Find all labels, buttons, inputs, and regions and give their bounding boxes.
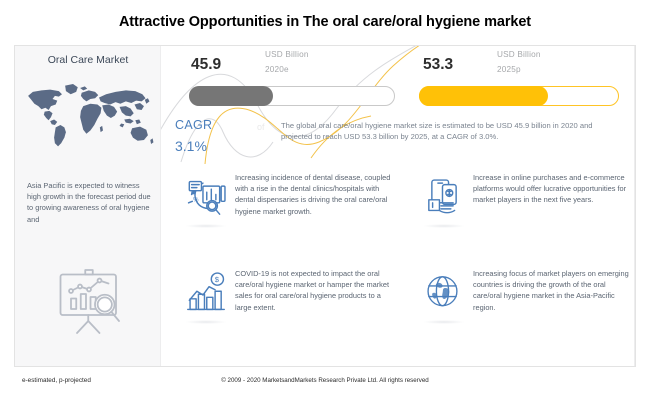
kpi-forecast-year: 2025p bbox=[497, 65, 521, 74]
insight-card: Increase in online purchases and e-comme… bbox=[399, 168, 636, 260]
insight-text: COVID-19 is not expected to impact the o… bbox=[235, 268, 391, 313]
kpi-forecast-unit: USD Billion bbox=[497, 50, 541, 59]
icon-shadow bbox=[423, 320, 465, 324]
kpi-section: 45.9 USD Billion 2020e 53.3 USD Billion … bbox=[161, 46, 636, 164]
footer-copyright: © 2009 - 2020 MarketsandMarkets Research… bbox=[0, 377, 650, 384]
kpi-current-year: 2020e bbox=[265, 65, 289, 74]
insight-card: $ COVID-19 is not expected to impact the… bbox=[161, 264, 399, 356]
presentation-chart-magnifier-icon bbox=[43, 264, 135, 336]
kpi-forecast-fill bbox=[419, 86, 548, 106]
cagr-label: CAGR bbox=[175, 118, 212, 132]
content-panel: 45.9 USD Billion 2020e 53.3 USD Billion … bbox=[161, 46, 635, 366]
insights-grid: % Increasing incidence of dental disease… bbox=[161, 168, 636, 367]
infographic-card: Oral Care Market bbox=[14, 45, 636, 367]
kpi-forecast-value: 53.3 bbox=[423, 56, 453, 74]
page-title: Attractive Opportunities in The oral car… bbox=[0, 14, 650, 30]
sidebar-note: Asia Pacific is expected to witness high… bbox=[27, 180, 155, 225]
kpi-current-track bbox=[189, 86, 395, 106]
insight-card: Increasing focus of market players on em… bbox=[399, 264, 636, 356]
sidebar-heading: Oral Care Market bbox=[15, 54, 161, 66]
world-map-icon bbox=[21, 72, 155, 156]
kpi-description: The global oral care/oral hygiene market… bbox=[281, 120, 611, 143]
svg-text:%: % bbox=[193, 197, 199, 203]
icon-shadow bbox=[185, 320, 227, 324]
dental-report-chart-icon: % bbox=[183, 174, 229, 218]
insight-card: % Increasing incidence of dental disease… bbox=[161, 168, 399, 260]
cagr-value: 3.1% bbox=[175, 138, 207, 154]
mobile-ecommerce-payment-icon bbox=[421, 174, 467, 218]
cagr-watermark: of bbox=[257, 122, 265, 132]
globe-icon bbox=[421, 270, 467, 314]
sidebar-panel: Oral Care Market bbox=[15, 46, 161, 367]
panel-divider bbox=[634, 46, 635, 367]
growth-bar-chart-dollar-icon: $ bbox=[183, 270, 229, 314]
insight-text: Increase in online purchases and e-comme… bbox=[473, 172, 629, 206]
kpi-forecast-track bbox=[419, 86, 619, 106]
icon-shadow bbox=[423, 224, 465, 228]
infographic-root: Attractive Opportunities in The oral car… bbox=[0, 0, 650, 404]
icon-shadow bbox=[185, 224, 227, 228]
insight-text: Increasing incidence of dental disease, … bbox=[235, 172, 391, 217]
kpi-current-unit: USD Billion bbox=[265, 50, 309, 59]
insight-text: Increasing focus of market players on em… bbox=[473, 268, 629, 313]
kpi-current-fill bbox=[189, 86, 273, 106]
kpi-current-value: 45.9 bbox=[191, 56, 221, 74]
